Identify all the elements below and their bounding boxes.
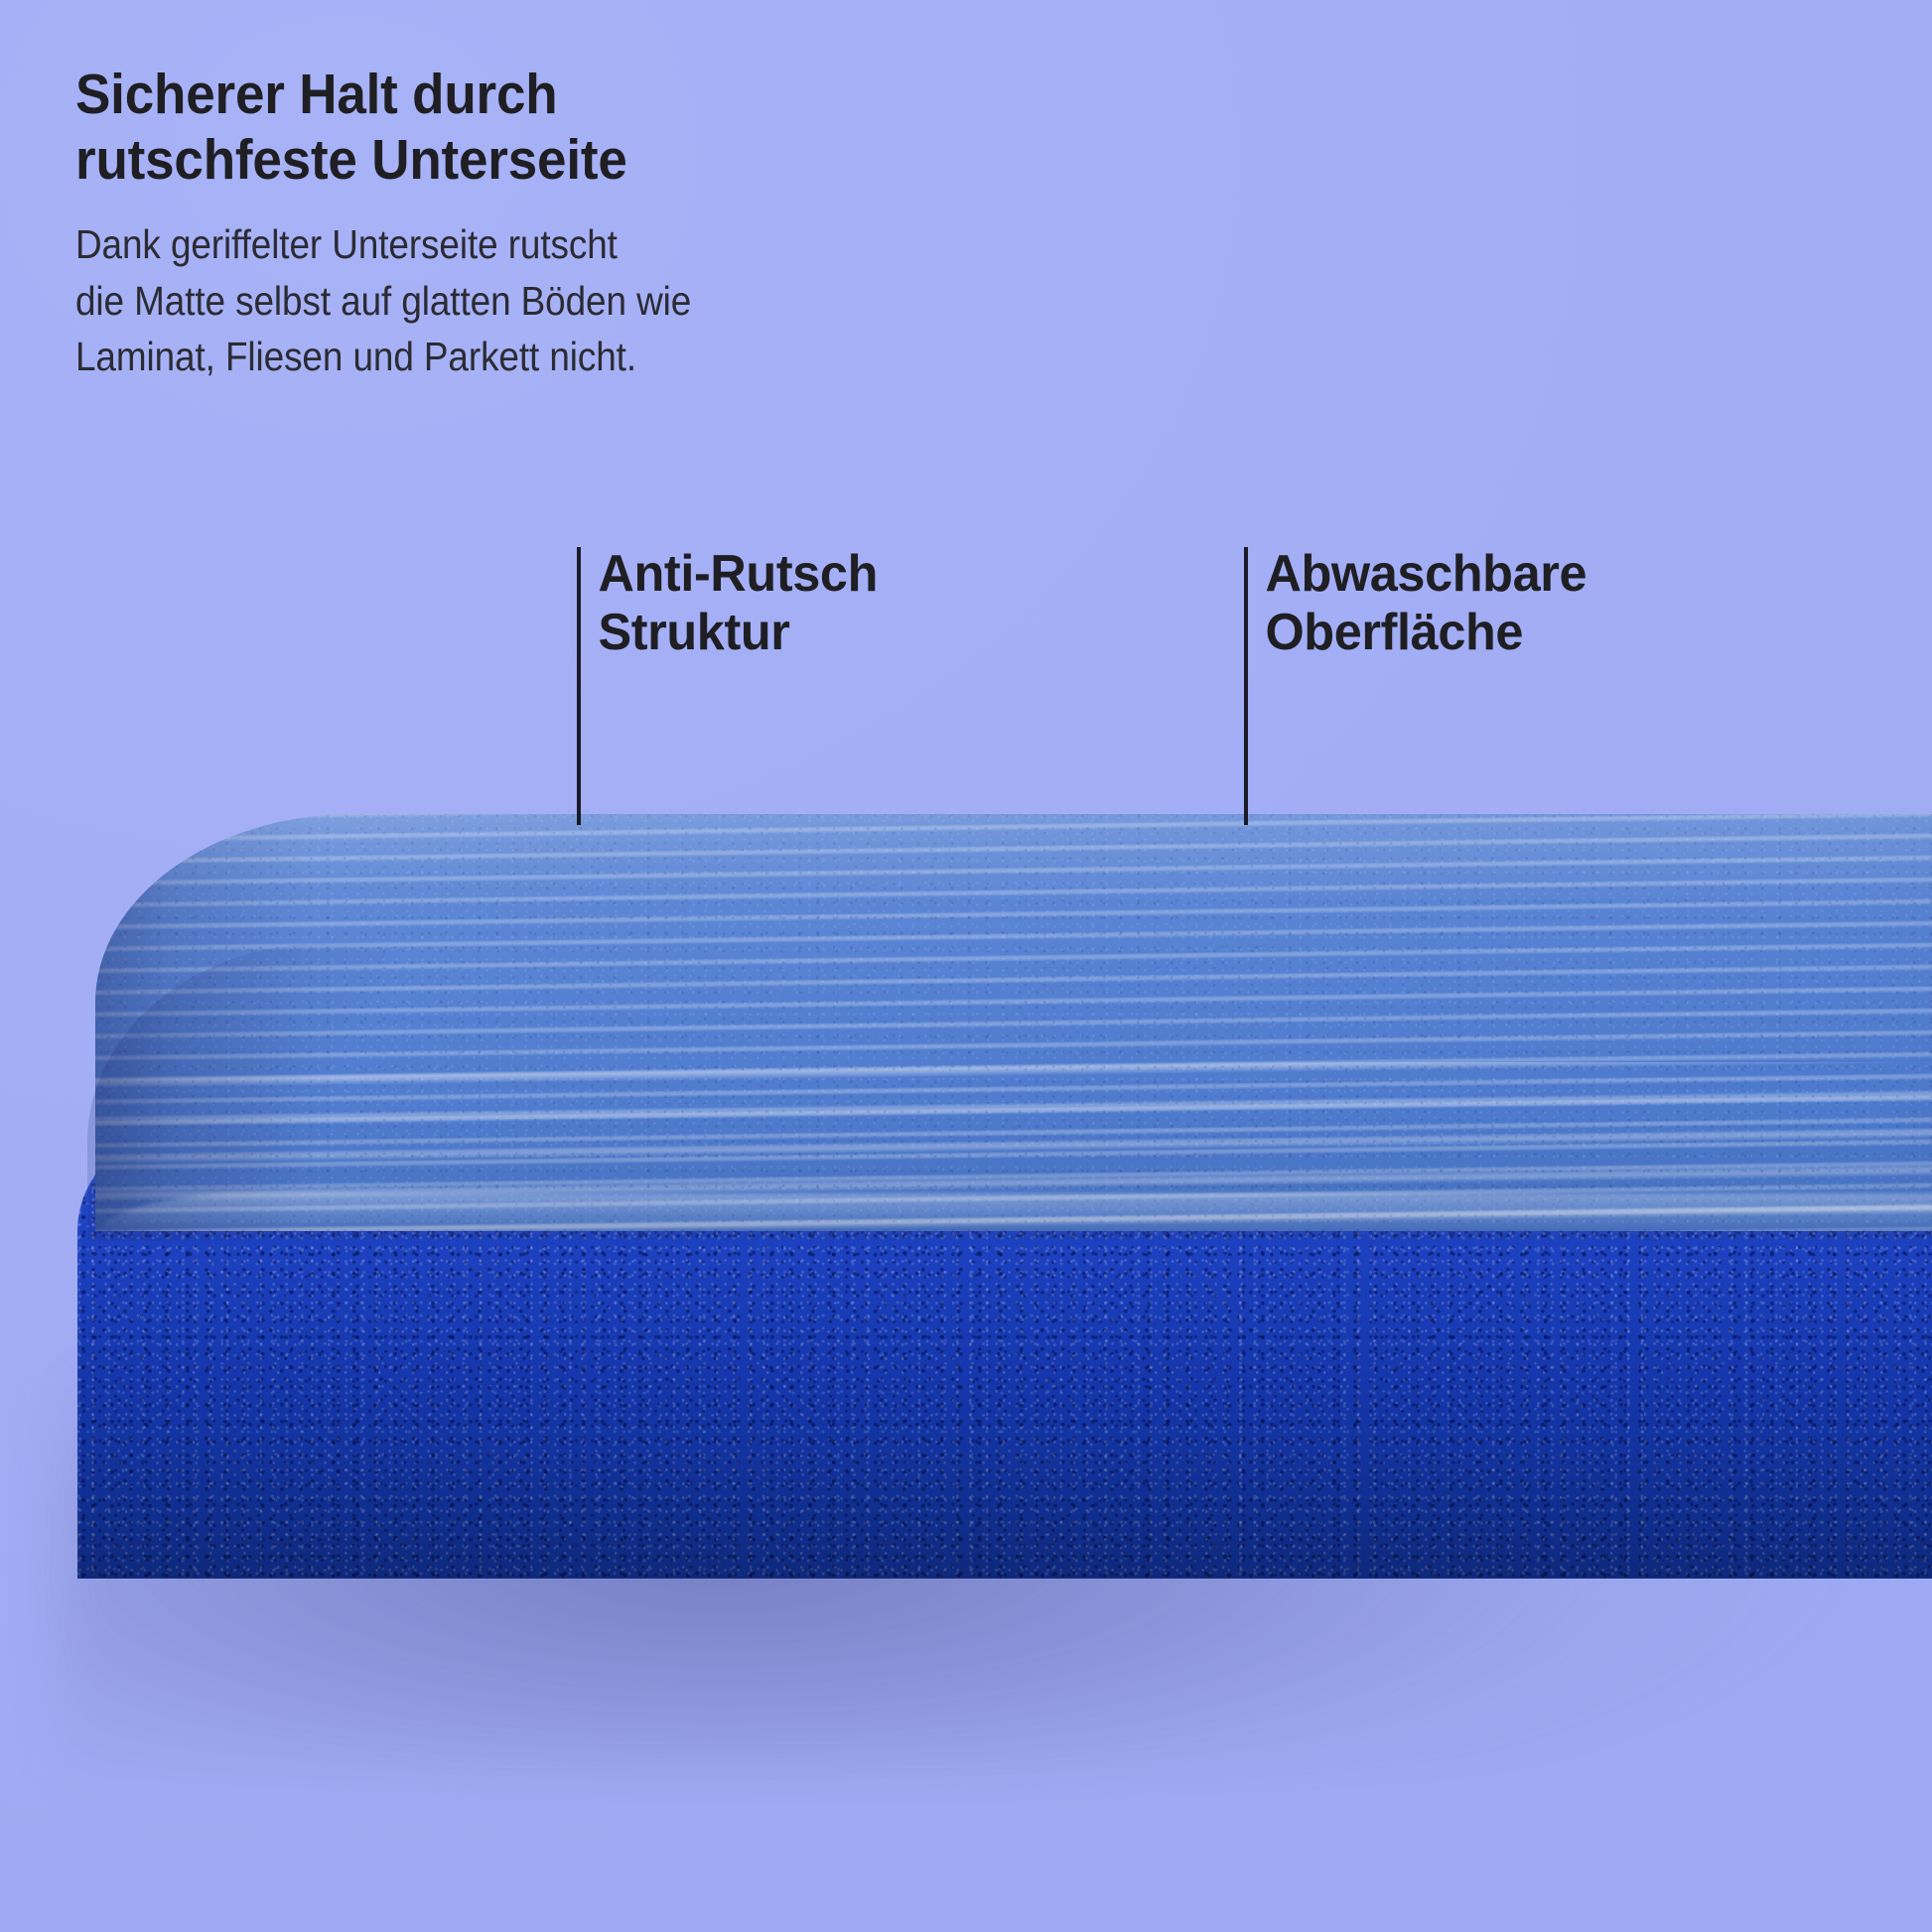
product-image-fitness-mat <box>0 824 1932 1932</box>
description-text: Dank geriffelter Unterseite rutscht die … <box>75 216 862 385</box>
feature-label: Abwaschbare Oberfläche <box>1248 545 1587 663</box>
feature-callout-washable: Abwaschbare Oberfläche <box>1244 545 1597 825</box>
mat-top-surface-ribbed <box>95 814 1932 1231</box>
page-title: Sicherer Halt durch rutschfeste Untersei… <box>75 62 906 193</box>
product-feature-banner: Sicherer Halt durch rutschfeste Untersei… <box>0 0 1932 1932</box>
mat-front-lip-highlight <box>95 1193 1932 1239</box>
mat-curvature-shading <box>95 814 1932 1231</box>
feature-callout-anti-slip: Anti-Rutsch Struktur <box>577 545 887 825</box>
feature-label: Anti-Rutsch Struktur <box>581 545 878 663</box>
